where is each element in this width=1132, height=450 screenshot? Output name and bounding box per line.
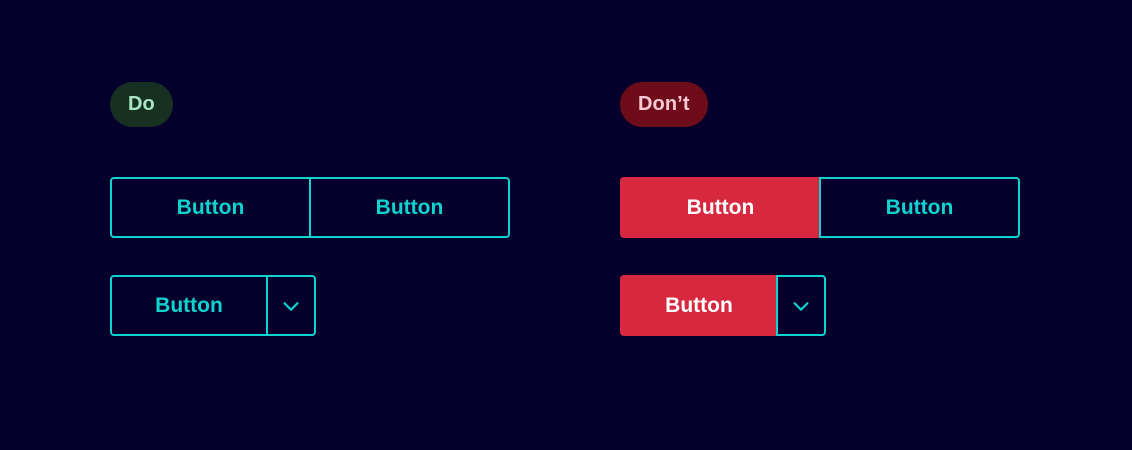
dont-button-primary[interactable]: Button xyxy=(620,177,821,238)
dont-split-button-main-label: Button xyxy=(665,294,733,318)
do-badge-label: Do xyxy=(128,93,155,116)
dont-split-button: Button xyxy=(620,275,826,336)
dont-button-secondary[interactable]: Button xyxy=(819,177,1020,238)
guidance-canvas: Do Button Button Button xyxy=(0,0,1132,450)
do-split-button-toggle[interactable] xyxy=(266,275,316,336)
dont-button-primary-label: Button xyxy=(687,196,755,220)
do-button-primary-label: Button xyxy=(177,196,245,220)
do-split-button-main[interactable]: Button xyxy=(110,275,268,336)
chevron-down-icon xyxy=(280,295,302,317)
do-badge: Do xyxy=(110,82,173,127)
do-button-secondary[interactable]: Button xyxy=(309,177,510,238)
dont-badge-label: Don’t xyxy=(638,93,690,116)
dont-split-button-toggle[interactable] xyxy=(776,275,826,336)
do-button-primary[interactable]: Button xyxy=(110,177,311,238)
dont-badge: Don’t xyxy=(620,82,708,127)
do-split-button: Button xyxy=(110,275,316,336)
dont-button-group: Button Button xyxy=(620,177,1020,238)
do-button-group: Button Button xyxy=(110,177,510,238)
dont-button-secondary-label: Button xyxy=(886,196,954,220)
dont-split-button-main[interactable]: Button xyxy=(620,275,778,336)
chevron-down-icon xyxy=(790,295,812,317)
do-button-secondary-label: Button xyxy=(376,196,444,220)
do-split-button-main-label: Button xyxy=(155,294,223,318)
